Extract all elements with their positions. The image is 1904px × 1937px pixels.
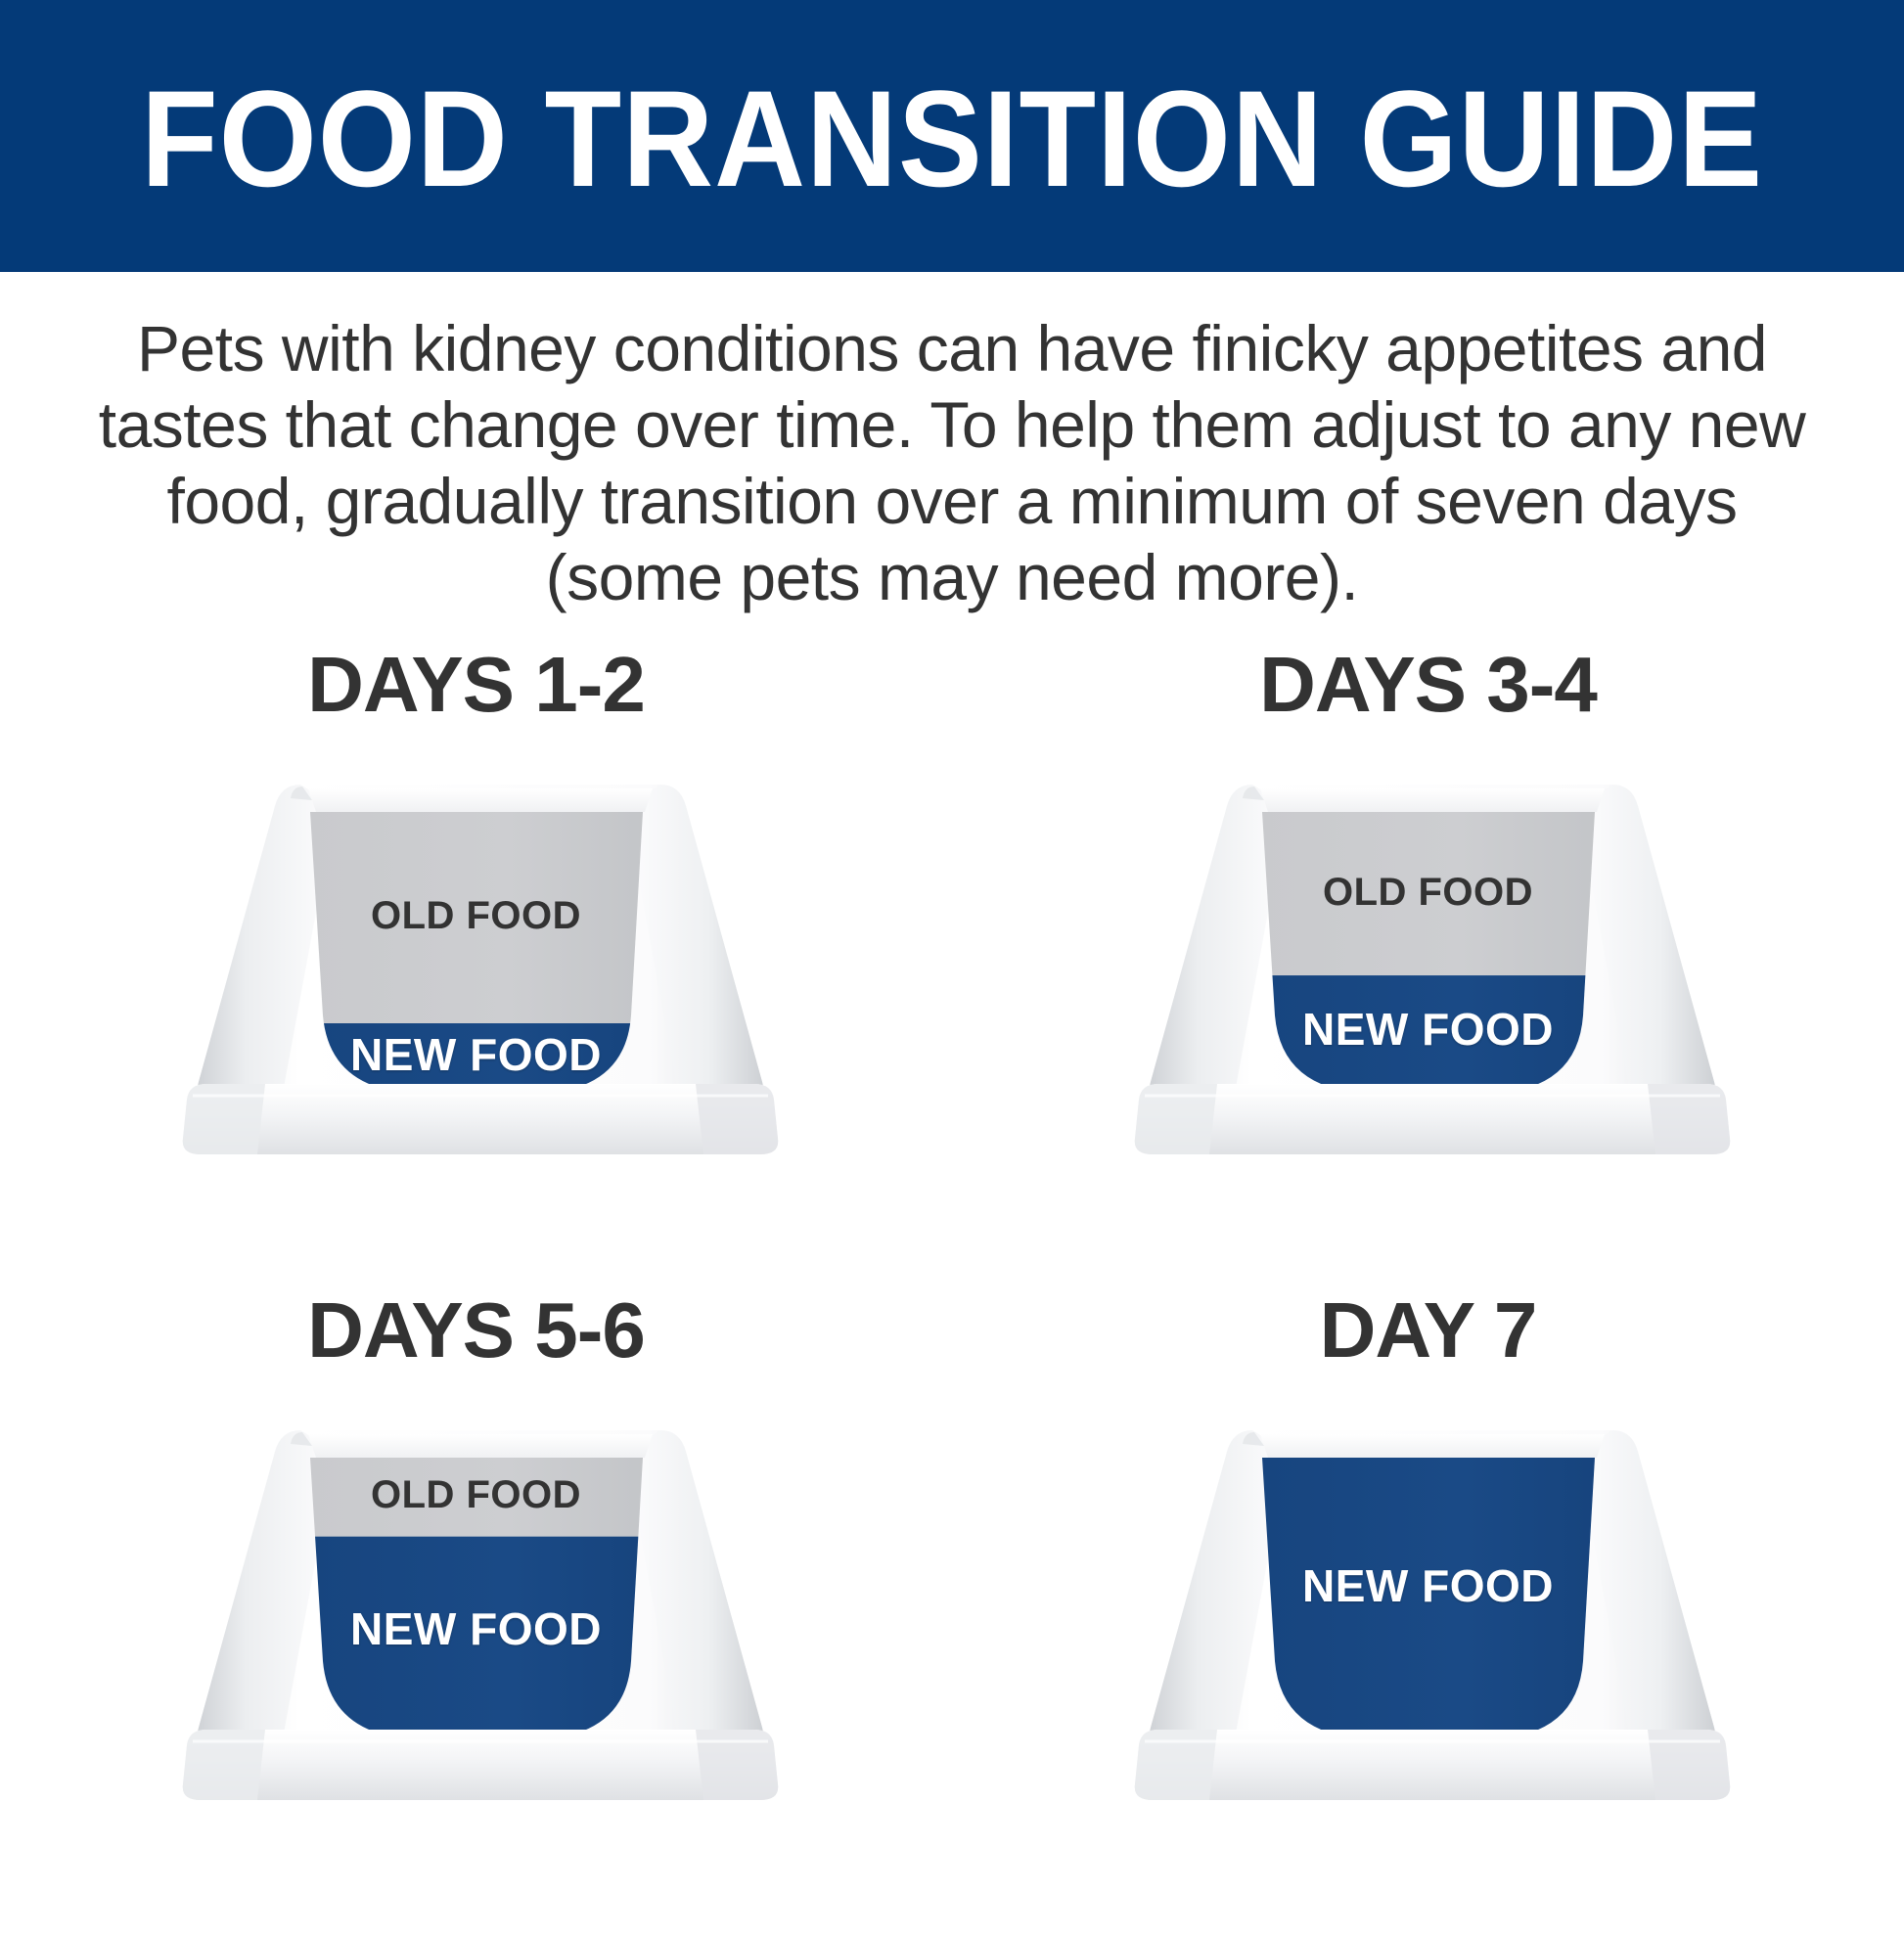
intro-paragraph: Pets with kidney conditions can have fin… — [91, 311, 1813, 616]
transition-stage-card: DAY 7 — [952, 1291, 1904, 1937]
food-bowl: OLD FOODNEW FOOD — [163, 1417, 790, 1808]
transition-stage-card: DAYS 3-4 — [952, 646, 1904, 1291]
food-bowl: NEW FOOD — [1115, 1417, 1742, 1808]
page-title: FOOD TRANSITION GUIDE — [141, 70, 1763, 207]
transition-stage-card: DAYS 5-6 — [0, 1291, 952, 1937]
stage-title: DAYS 3-4 — [952, 646, 1904, 724]
stage-title: DAYS 1-2 — [0, 646, 952, 724]
food-bowl: OLD FOODNEW FOOD — [163, 771, 790, 1162]
stage-title: DAYS 5-6 — [0, 1291, 952, 1370]
stage-title: DAY 7 — [952, 1291, 1904, 1370]
food-bowl: OLD FOODNEW FOOD — [1115, 771, 1742, 1162]
transition-stage-grid: DAYS 1-2 — [0, 646, 1904, 1937]
header-band: FOOD TRANSITION GUIDE — [0, 0, 1904, 272]
transition-stage-card: DAYS 1-2 — [0, 646, 952, 1291]
